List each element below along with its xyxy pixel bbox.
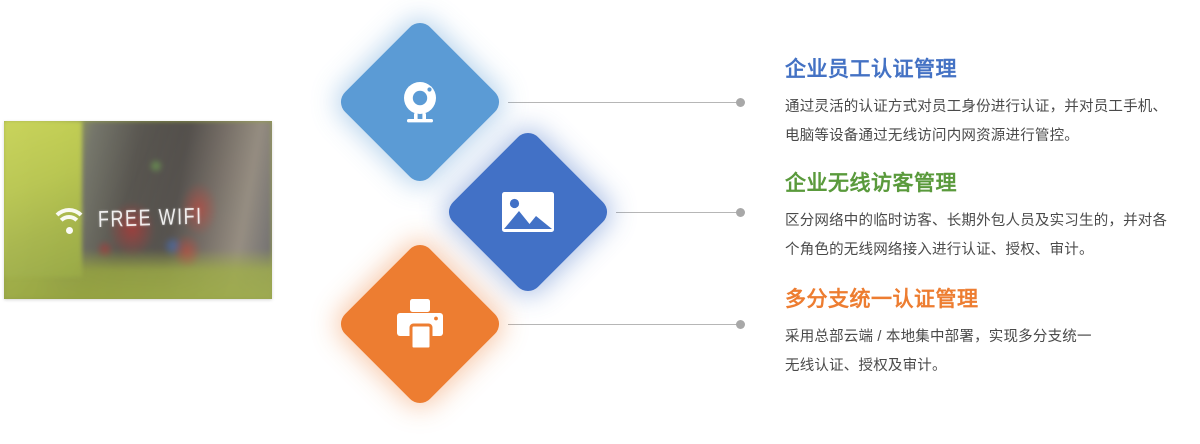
feature-diamond-guest-wireless[interactable] [443, 127, 613, 297]
feature-body-line: 区分网络中的临时访客、长期外包人员及实习生的，并对各 [785, 213, 1167, 229]
printer-icon [360, 264, 480, 384]
feature-body-guest-wireless: 区分网络中的临时访客、长期外包人员及实习生的，并对各 个角色的无线网络接入进行认… [785, 207, 1195, 265]
feature-heading-guest-wireless: 企业无线访客管理 [785, 172, 1195, 195]
feature-text-guest-wireless: 企业无线访客管理 区分网络中的临时访客、长期外包人员及实习生的，并对各 个角色的… [785, 172, 1195, 265]
connector-line-3 [508, 324, 740, 325]
feature-diamond-multi-branch-auth[interactable] [335, 239, 505, 409]
feature-showcase: FREE WIFI [0, 0, 1200, 418]
feature-body-employee-auth: 通过灵活的认证方式对员工身份进行认证，并对员工手机、 电脑等设备通过无线访问内网… [785, 93, 1195, 151]
feature-body-line: 采用总部云端 / 本地集中部署，实现多分支统一 [785, 329, 1092, 345]
feature-body-line: 电脑等设备通过无线访问内网资源进行管控。 [785, 128, 1079, 144]
image-icon [468, 152, 588, 272]
feature-body-line: 个角色的无线网络接入进行认证、授权、审计。 [785, 242, 1094, 258]
free-wifi-label: FREE WIFI [98, 202, 203, 233]
feature-body-line: 通过灵活的认证方式对员工身份进行认证，并对员工手机、 [785, 99, 1167, 115]
feature-body-multi-branch-auth: 采用总部云端 / 本地集中部署，实现多分支统一 无线认证、授权及审计。 [785, 323, 1195, 381]
feature-body-line: 无线认证、授权及审计。 [785, 358, 947, 374]
feature-text-multi-branch-auth: 多分支统一认证管理 采用总部云端 / 本地集中部署，实现多分支统一 无线认证、授… [785, 288, 1195, 381]
feature-heading-employee-auth: 企业员工认证管理 [785, 58, 1195, 81]
connector-line-1 [508, 102, 740, 103]
wifi-icon [52, 208, 86, 236]
connector-dot-3 [736, 320, 745, 329]
connector-dot-1 [736, 98, 745, 107]
feature-diamond-employee-auth[interactable] [335, 17, 505, 187]
wifi-dot [66, 227, 73, 234]
connector-line-2 [616, 212, 740, 213]
feature-text-employee-auth: 企业员工认证管理 通过灵活的认证方式对员工身份进行认证，并对员工手机、 电脑等设… [785, 58, 1195, 151]
connector-dot-2 [736, 208, 745, 217]
webcam-icon [360, 42, 480, 162]
feature-heading-multi-branch-auth: 多分支统一认证管理 [785, 288, 1195, 311]
